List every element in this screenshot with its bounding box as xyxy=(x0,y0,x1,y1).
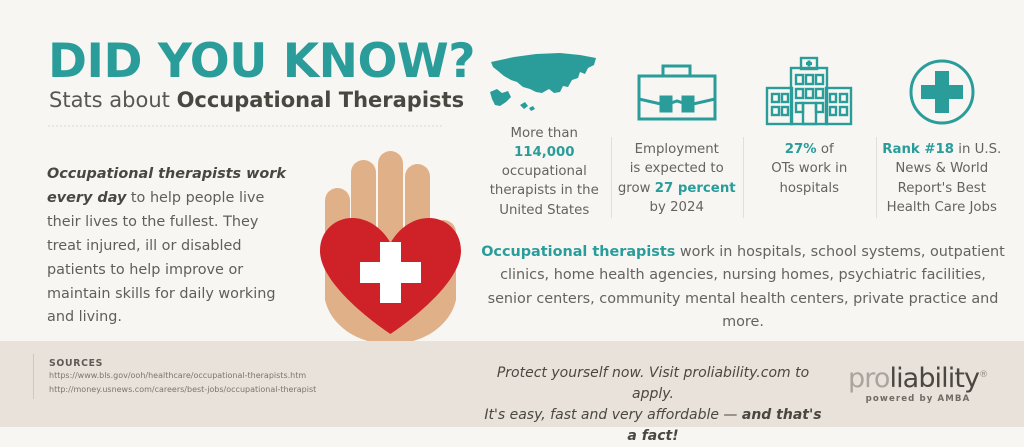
stat-caption-line: Employment xyxy=(618,140,736,159)
stat-column-rank: Rank #18 in U.S.News & WorldReport's Bes… xyxy=(876,44,1009,220)
briefcase-icon xyxy=(635,44,719,140)
workplaces-emphasis: Occupational therapists xyxy=(481,244,675,260)
stat-column-hospital: 27% ofOTs work inhospitals xyxy=(743,44,876,220)
stat-caption-line: Rank #18 in U.S. xyxy=(882,140,1001,159)
logo-tagline: powered by AMBA xyxy=(848,394,988,404)
source-link[interactable]: http://money.usnews.com/careers/best-job… xyxy=(49,383,316,397)
proliability-logo[interactable]: proliability® powered by AMBA xyxy=(848,365,988,404)
stat-caption-line: grow 27 percent xyxy=(618,179,736,198)
usa-map-icon xyxy=(484,44,604,124)
stat-value: 27 percent xyxy=(655,181,736,196)
hospital-icon xyxy=(763,44,855,140)
stat-label: Health Care Jobs xyxy=(887,200,997,215)
stat-column-map: More than 114,000occupationaltherapists … xyxy=(478,44,611,220)
source-link[interactable]: https://www.bls.gov/ooh/healthcare/occup… xyxy=(49,369,316,383)
hand-heart-svg xyxy=(289,148,475,344)
hand-heart-illustration xyxy=(289,148,475,344)
stat-label: Report's Best xyxy=(898,181,986,196)
stat-caption: Rank #18 in U.S.News & WorldReport's Bes… xyxy=(876,140,1007,217)
stat-label: of xyxy=(817,142,834,157)
stat-label: More than xyxy=(511,126,578,141)
sources-title: SOURCES xyxy=(49,358,316,369)
stat-label: occupational xyxy=(502,164,587,179)
stat-label: News & World xyxy=(895,161,988,176)
stat-label: hospitals xyxy=(779,181,839,196)
stat-caption-line: Report's Best xyxy=(882,179,1001,198)
stat-label: in U.S. xyxy=(954,142,1001,157)
stat-caption-line: OTs work in xyxy=(771,159,847,178)
stat-label: OTs work in xyxy=(771,161,847,176)
stat-label: therapists in the xyxy=(490,183,599,198)
stat-value: 114,000 xyxy=(514,145,575,160)
stat-column-employment: Employmentis expected togrow 27 percentb… xyxy=(611,44,744,220)
medical-cross-circle-icon xyxy=(908,44,976,140)
stat-caption-line: United States xyxy=(484,201,605,220)
stat-value: 27% xyxy=(785,142,817,157)
stat-caption-line: is expected to xyxy=(618,159,736,178)
stat-label: by 2024 xyxy=(650,200,704,215)
subtitle-emphasis: Occupational Therapists xyxy=(177,88,465,112)
intro-paragraph: Occupational therapists work every day t… xyxy=(47,163,287,330)
stat-caption-line: therapists in the xyxy=(484,181,605,200)
cta-line-2-plain: It's easy, fast and very affordable — xyxy=(484,407,741,423)
stat-label: grow xyxy=(618,181,655,196)
stat-value: Rank #18 xyxy=(882,142,954,157)
intro-rest: to help people live their lives to the f… xyxy=(47,190,276,326)
cta-line-1: Protect yourself now. Visit proliability… xyxy=(478,363,828,405)
stat-caption-line: 27% of xyxy=(771,140,847,159)
stat-caption: More than 114,000occupationaltherapists … xyxy=(478,124,611,220)
stat-caption: 27% ofOTs work inhospitals xyxy=(765,140,853,198)
sources-block: SOURCES https://www.bls.gov/ooh/healthca… xyxy=(33,358,316,397)
stat-label: is expected to xyxy=(630,161,724,176)
stat-label: United States xyxy=(499,203,589,218)
logo-liability: liability xyxy=(889,363,979,394)
page-subtitle: Stats about Occupational Therapists xyxy=(49,90,464,111)
stat-caption-line: More than 114,000 xyxy=(484,124,605,163)
workplaces-paragraph: Occupational therapists work in hospital… xyxy=(478,241,1008,334)
stat-caption-line: occupational xyxy=(484,162,605,181)
logo-pro: pro xyxy=(848,363,889,394)
footer-bar: SOURCES https://www.bls.gov/ooh/healthca… xyxy=(0,341,1024,427)
stat-label: Employment xyxy=(635,142,719,157)
stat-caption: Employmentis expected togrow 27 percentb… xyxy=(612,140,742,217)
stat-caption-line: hospitals xyxy=(771,179,847,198)
cta-line-2: It's easy, fast and very affordable — an… xyxy=(478,405,828,447)
subtitle-prefix: Stats about xyxy=(49,88,177,112)
page-title: DID YOU KNOW? xyxy=(48,38,475,85)
dotted-divider xyxy=(47,125,443,127)
call-to-action: Protect yourself now. Visit proliability… xyxy=(478,363,828,447)
logo-wordmark: proliability® xyxy=(848,365,988,392)
registered-trademark-icon: ® xyxy=(979,370,987,380)
stats-row: More than 114,000occupationaltherapists … xyxy=(478,44,1008,220)
stat-caption-line: Health Care Jobs xyxy=(882,198,1001,217)
infographic-poster: DID YOU KNOW? Stats about Occupational T… xyxy=(0,0,1024,427)
stat-caption-line: News & World xyxy=(882,159,1001,178)
stat-caption-line: by 2024 xyxy=(618,198,736,217)
